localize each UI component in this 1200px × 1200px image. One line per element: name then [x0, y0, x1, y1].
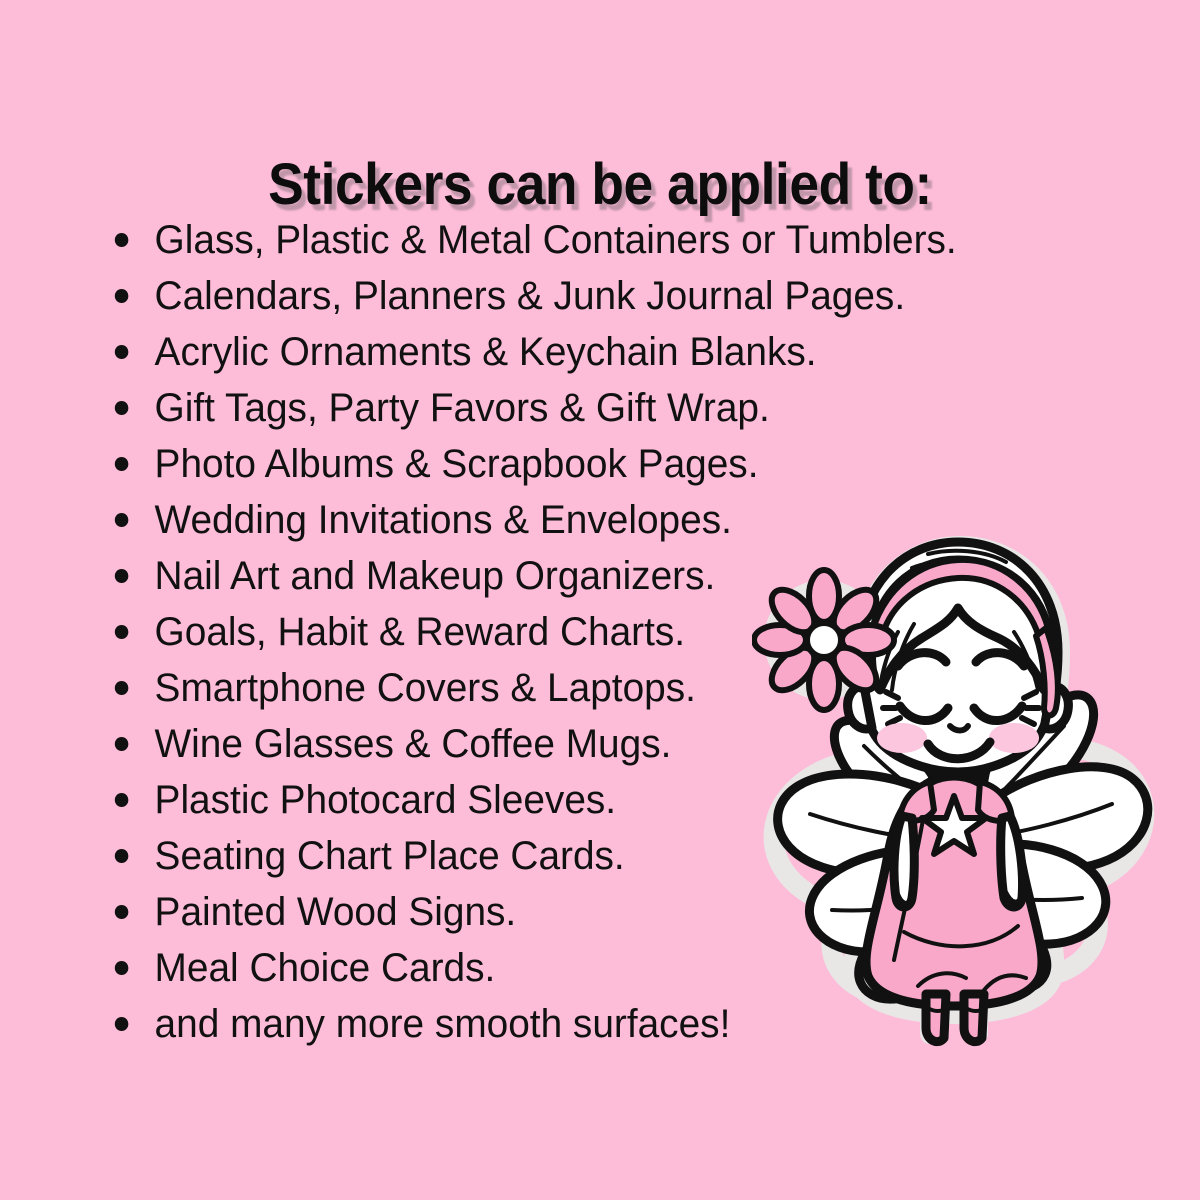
list-item-label: Smartphone Covers & Laptops. — [155, 660, 696, 716]
list-item-label: Calendars, Planners & Junk Journal Pages… — [155, 268, 906, 324]
page-title: Stickers can be applied to: — [48, 151, 1152, 218]
list-item: Glass, Plastic & Metal Containers or Tum… — [108, 212, 1097, 268]
bullet-icon — [115, 793, 129, 807]
list-item-label: Plastic Photocard Sleeves. — [155, 772, 617, 828]
bullet-icon — [115, 905, 129, 919]
bullet-icon — [115, 961, 129, 975]
list-item-label: Seating Chart Place Cards. — [155, 828, 625, 884]
list-item-label: Gift Tags, Party Favors & Gift Wrap. — [155, 380, 770, 436]
list-item: Seating Chart Place Cards. — [108, 828, 1097, 884]
list-item-label: and many more smooth surfaces! — [155, 996, 731, 1052]
list-item: and many more smooth surfaces! — [108, 996, 1097, 1052]
surfaces-list: Glass, Plastic & Metal Containers or Tum… — [108, 212, 1128, 1052]
list-item-label: Glass, Plastic & Metal Containers or Tum… — [155, 212, 957, 268]
bullet-icon — [115, 457, 129, 471]
bullet-icon — [115, 513, 129, 527]
list-item-label: Meal Choice Cards. — [155, 940, 496, 996]
bullet-icon — [115, 289, 129, 303]
list-item-label: Wedding Invitations & Envelopes. — [155, 492, 732, 548]
bullet-icon — [115, 233, 129, 247]
list-item-label: Acrylic Ornaments & Keychain Blanks. — [155, 324, 817, 380]
list-item: Wedding Invitations & Envelopes. — [108, 492, 1097, 548]
list-item-label: Photo Albums & Scrapbook Pages. — [155, 436, 759, 492]
bullet-icon — [115, 345, 129, 359]
bullet-icon — [115, 849, 129, 863]
list-item-label: Wine Glasses & Coffee Mugs. — [155, 716, 672, 772]
list-item: Plastic Photocard Sleeves. — [108, 772, 1097, 828]
list-item: Gift Tags, Party Favors & Gift Wrap. — [108, 380, 1097, 436]
list-item: Acrylic Ornaments & Keychain Blanks. — [108, 324, 1097, 380]
poster-canvas: Stickers can be applied to: Glass, Plast… — [0, 0, 1200, 1200]
bullet-icon — [115, 401, 129, 415]
list-item: Goals, Habit & Reward Charts. — [108, 604, 1097, 660]
bullet-icon — [115, 737, 129, 751]
list-item: Nail Art and Makeup Organizers. — [108, 548, 1097, 604]
list-item-label: Goals, Habit & Reward Charts. — [155, 604, 685, 660]
list-item: Photo Albums & Scrapbook Pages. — [108, 436, 1097, 492]
list-item: Meal Choice Cards. — [108, 940, 1097, 996]
list-item-label: Painted Wood Signs. — [155, 884, 517, 940]
list-item: Wine Glasses & Coffee Mugs. — [108, 716, 1097, 772]
list-item: Smartphone Covers & Laptops. — [108, 660, 1097, 716]
bullet-icon — [115, 681, 129, 695]
list-item: Calendars, Planners & Junk Journal Pages… — [108, 268, 1097, 324]
bullet-icon — [115, 1017, 129, 1031]
bullet-icon — [115, 625, 129, 639]
bullet-icon — [115, 569, 129, 583]
list-item: Painted Wood Signs. — [108, 884, 1097, 940]
list-item-label: Nail Art and Makeup Organizers. — [155, 548, 716, 604]
